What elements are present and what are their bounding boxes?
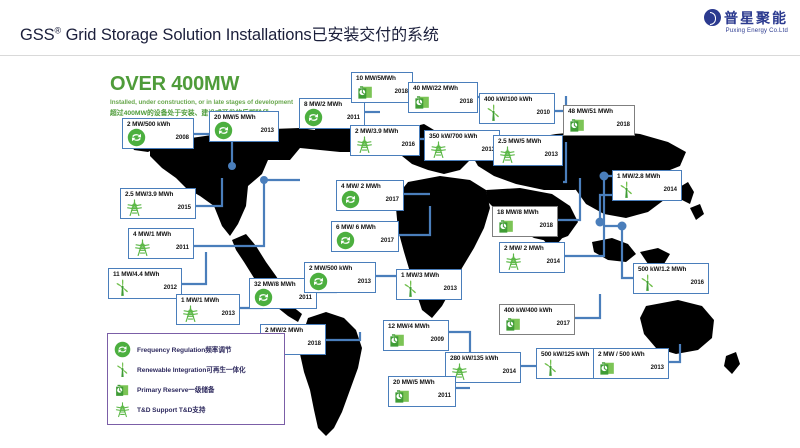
callout-year-label: 2014 — [664, 187, 677, 193]
map-legend: Frequency Regulation频率调节Renewable Integr… — [107, 333, 285, 425]
installation-callout[interactable]: 10 MW/5MWh2018 — [351, 72, 413, 103]
primary-reserve-icon — [413, 92, 432, 111]
callout-detail-row: 2018 — [413, 92, 473, 111]
frequency-regulation-icon — [336, 231, 355, 250]
renewable-integration-icon — [541, 358, 560, 377]
installation-callout[interactable]: 2 MW/500 kWh2008 — [122, 118, 194, 149]
callout-capacity-label: 40 MW/22 MWh — [413, 85, 473, 92]
installation-callout[interactable]: 6 MW/ 6 MWh2017 — [331, 221, 399, 252]
logo-english-name: Puxing Energy Co.Ltd — [726, 28, 788, 34]
callout-capacity-label: 2 MW/3.9 MWh — [355, 128, 415, 135]
installation-callout[interactable]: 20 MW/5 MWh2013 — [209, 111, 279, 142]
frequency-regulation-icon — [254, 288, 273, 307]
renewable-integration-icon — [401, 279, 420, 298]
legend-item-label: Primary Reserve一级储备 — [137, 384, 214, 394]
callout-capacity-label: 1 MW/3 MWh — [401, 272, 457, 279]
legend-item[interactable]: Frequency Regulation频率调节 — [114, 339, 278, 359]
callout-detail-row: 2018 — [356, 82, 408, 101]
callout-year-label: 2013 — [261, 128, 274, 134]
td-support-icon — [355, 135, 374, 154]
renewable-integration-icon — [617, 180, 636, 199]
primary-reserve-icon — [388, 330, 407, 349]
callout-year-label: 2018 — [395, 89, 408, 95]
td-support-icon — [429, 140, 448, 159]
callout-year-label: 2009 — [431, 337, 444, 343]
callout-year-label: 2016 — [402, 142, 415, 148]
installation-callout[interactable]: 2 MW/500 kWh2013 — [304, 262, 376, 293]
callout-capacity-label: 2.5 MW/3.9 MWh — [125, 191, 191, 198]
callout-detail-row: 2013 — [498, 145, 558, 164]
world-map-area: OVER 400MW Installed, under construction… — [0, 56, 800, 448]
td-support-icon — [133, 238, 152, 257]
callout-year-label: 2018 — [540, 223, 553, 229]
callout-capacity-label: 48 MW/51 MWh — [568, 108, 630, 115]
installation-callout[interactable]: 280 kW/135 kWh2014 — [445, 352, 521, 383]
callout-capacity-label: 2.5 MW/5 MWh — [498, 138, 558, 145]
callout-detail-row: 2016 — [638, 273, 704, 292]
callout-year-label: 2013 — [651, 365, 664, 371]
installation-callout[interactable]: 1 MW/1 MWh2013 — [176, 294, 240, 325]
callout-year-label: 2008 — [176, 135, 189, 141]
callout-detail-row: 2009 — [388, 330, 444, 349]
headline-capacity: OVER 400MW — [110, 74, 340, 95]
frequency-regulation-icon — [341, 190, 360, 209]
callout-year-label: 2013 — [358, 279, 371, 285]
renewable-integration-icon — [484, 103, 503, 122]
legend-item-list: Frequency Regulation频率调节Renewable Integr… — [114, 339, 278, 419]
primary-reserve-icon — [393, 386, 412, 405]
td-support-icon — [504, 252, 523, 271]
callout-detail-row: 2016 — [355, 135, 415, 154]
callout-capacity-label: 350 kW/700 kWh — [429, 133, 495, 140]
callout-capacity-label: 500 kW/1.2 MWh — [638, 266, 704, 273]
callout-year-label: 2011 — [347, 115, 360, 121]
primary-reserve-icon — [497, 216, 516, 235]
callout-detail-row: 2014 — [617, 180, 677, 199]
primary-reserve-icon — [356, 82, 375, 101]
renewable-integration-icon — [114, 361, 131, 378]
logo-top-row: 普星聚能 — [704, 9, 788, 26]
callout-year-label: 2010 — [537, 110, 550, 116]
title-text: Grid Storage Solution Installations — [61, 26, 311, 44]
callout-year-label: 2017 — [557, 321, 570, 327]
callout-capacity-label: 2 MW/500 kWh — [309, 265, 371, 272]
callout-detail-row: 2018 — [568, 115, 630, 134]
callout-detail-row: 2011 — [133, 238, 189, 257]
legend-item[interactable]: Primary Reserve一级储备 — [114, 379, 278, 399]
callout-detail-row: 2013 — [598, 358, 664, 377]
callout-year-label: 2018 — [460, 99, 473, 105]
callout-detail-row: 2015 — [125, 198, 191, 217]
installation-callout[interactable]: 400 kW/100 kWh2010 — [479, 93, 555, 124]
puxing-logo-icon — [704, 9, 721, 26]
callout-year-label: 2017 — [381, 238, 394, 244]
callout-capacity-label: 1 MW/2.8 MWh — [617, 173, 677, 180]
callout-year-label: 2014 — [547, 259, 560, 265]
td-support-icon — [181, 304, 200, 323]
callout-detail-row: 2017 — [336, 231, 394, 250]
td-support-icon — [114, 401, 131, 418]
callout-capacity-label: 280 kW/135 kWh — [450, 355, 516, 362]
callout-capacity-label: 400 kW/400 kWh — [504, 307, 570, 314]
callout-detail-row: 2011 — [393, 386, 451, 405]
installation-callout[interactable]: 11 MW/4.4 MWh2012 — [108, 268, 182, 299]
renewable-integration-icon — [113, 278, 132, 297]
callout-capacity-label: 12 MW/4 MWh — [388, 323, 444, 330]
company-logo: 普星聚能 Puxing Energy Co.Ltd — [704, 9, 788, 34]
legend-item-label: Frequency Regulation频率调节 — [137, 344, 231, 354]
callout-detail-row: 2017 — [341, 190, 399, 209]
installation-callout[interactable]: 2 MW / 500 kWh2013 — [593, 348, 669, 379]
primary-reserve-icon — [114, 381, 131, 398]
callout-detail-row: 2013 — [181, 304, 235, 323]
callout-year-label: 2016 — [691, 280, 704, 286]
installation-callout[interactable]: 18 MW/8 MWh2018 — [492, 206, 558, 237]
callout-capacity-label: 11 MW/4.4 MWh — [113, 271, 177, 278]
slide-header: GSS® Grid Storage Solution Installations… — [0, 0, 800, 56]
callout-year-label: 2012 — [164, 285, 177, 291]
callout-capacity-label: 2 MW/500 kWh — [127, 121, 189, 128]
callout-detail-row: 2017 — [504, 314, 570, 333]
callout-capacity-label: 20 MW/5 MWh — [393, 379, 451, 386]
callout-year-label: 2013 — [545, 152, 558, 158]
installation-callout[interactable]: 1 MW/2.8 MWh2014 — [612, 170, 682, 201]
callout-year-label: 2014 — [503, 369, 516, 375]
callout-year-label: 2011 — [299, 295, 312, 301]
callout-year-label: 2013 — [222, 311, 235, 317]
installation-callout[interactable]: 2.5 MW/3.9 MWh2015 — [120, 188, 196, 219]
installation-callout[interactable]: 4 MW/ 2 MWh2017 — [336, 180, 404, 211]
renewable-integration-icon — [638, 273, 657, 292]
td-support-icon — [498, 145, 517, 164]
legend-item[interactable]: Renewable Integration可再生一体化 — [114, 359, 278, 379]
installation-callout[interactable]: 2.5 MW/5 MWh2013 — [493, 135, 563, 166]
frequency-regulation-icon — [114, 341, 131, 358]
callout-detail-row: 2013 — [429, 140, 495, 159]
installation-callout[interactable]: 1 MW/3 MWh2013 — [396, 269, 462, 300]
frequency-regulation-icon — [309, 272, 328, 291]
frequency-regulation-icon — [214, 121, 233, 140]
td-support-icon — [125, 198, 144, 217]
title-chinese: 已安装交付的系统 — [312, 27, 439, 44]
callout-capacity-label: 1 MW/1 MWh — [181, 297, 235, 304]
callout-detail-row: 2018 — [497, 216, 553, 235]
callout-year-label: 2015 — [178, 205, 191, 211]
legend-item-label: Renewable Integration可再生一体化 — [137, 364, 246, 374]
primary-reserve-icon — [504, 314, 523, 333]
logo-chinese-name: 普星聚能 — [724, 11, 788, 25]
legend-item[interactable]: T&D Support T&D支持 — [114, 399, 278, 419]
callout-detail-row: 2014 — [450, 362, 516, 381]
callout-year-label: 2013 — [444, 286, 457, 292]
callout-capacity-label: 4 MW/1 MWh — [133, 231, 189, 238]
callout-detail-row: 2010 — [484, 103, 550, 122]
primary-reserve-icon — [568, 115, 587, 134]
legend-item-label: T&D Support T&D支持 — [137, 404, 205, 414]
callout-year-label: 2018 — [617, 122, 630, 128]
frequency-regulation-icon — [127, 128, 146, 147]
primary-reserve-icon — [598, 358, 617, 377]
callout-capacity-label: 20 MW/5 MWh — [214, 114, 274, 121]
installation-callout[interactable]: 2 MW/3.9 MWh2016 — [350, 125, 420, 156]
callout-capacity-label: 400 kW/100 kWh — [484, 96, 550, 103]
frequency-regulation-icon — [304, 108, 323, 127]
callout-year-label: 2011 — [438, 393, 451, 399]
callout-detail-row: 2013 — [214, 121, 274, 140]
callout-capacity-label: 4 MW/ 2 MWh — [341, 183, 399, 190]
callout-capacity-label: 2 MW/ 2 MWh — [504, 245, 560, 252]
callout-detail-row: 2013 — [401, 279, 457, 298]
callout-detail-row: 2013 — [309, 272, 371, 291]
callout-detail-row: 2014 — [504, 252, 560, 271]
callout-capacity-label: 2 MW / 500 kWh — [598, 351, 664, 358]
installation-callout[interactable]: 2 MW/ 2 MWh2014 — [499, 242, 565, 273]
callout-capacity-label: 18 MW/8 MWh — [497, 209, 553, 216]
installation-callout[interactable]: 20 MW/5 MWh2011 — [388, 376, 456, 407]
installation-callout[interactable]: 40 MW/22 MWh2018 — [408, 82, 478, 113]
callout-year-label: 2011 — [176, 245, 189, 251]
installation-callout[interactable]: 4 MW/1 MWh2011 — [128, 228, 194, 259]
callout-year-label: 2018 — [308, 341, 321, 347]
callout-detail-row: 2008 — [127, 128, 189, 147]
installation-callout[interactable]: 350 kW/700 kWh2013 — [424, 130, 500, 161]
title-acronym: GSS — [20, 26, 55, 44]
installation-callout[interactable]: 500 kW/1.2 MWh2016 — [633, 263, 709, 294]
slide-root: GSS® Grid Storage Solution Installations… — [0, 0, 800, 448]
installation-callout[interactable]: 400 kW/400 kWh2017 — [499, 304, 575, 335]
callout-capacity-label: 10 MW/5MWh — [356, 75, 408, 82]
callout-detail-row: 2012 — [113, 278, 177, 297]
installation-callout[interactable]: 12 MW/4 MWh2009 — [383, 320, 449, 351]
callout-capacity-label: 6 MW/ 6 MWh — [336, 224, 394, 231]
installation-callout[interactable]: 48 MW/51 MWh2018 — [563, 105, 635, 136]
page-title: GSS® Grid Storage Solution Installations… — [20, 21, 439, 45]
callout-year-label: 2017 — [386, 197, 399, 203]
